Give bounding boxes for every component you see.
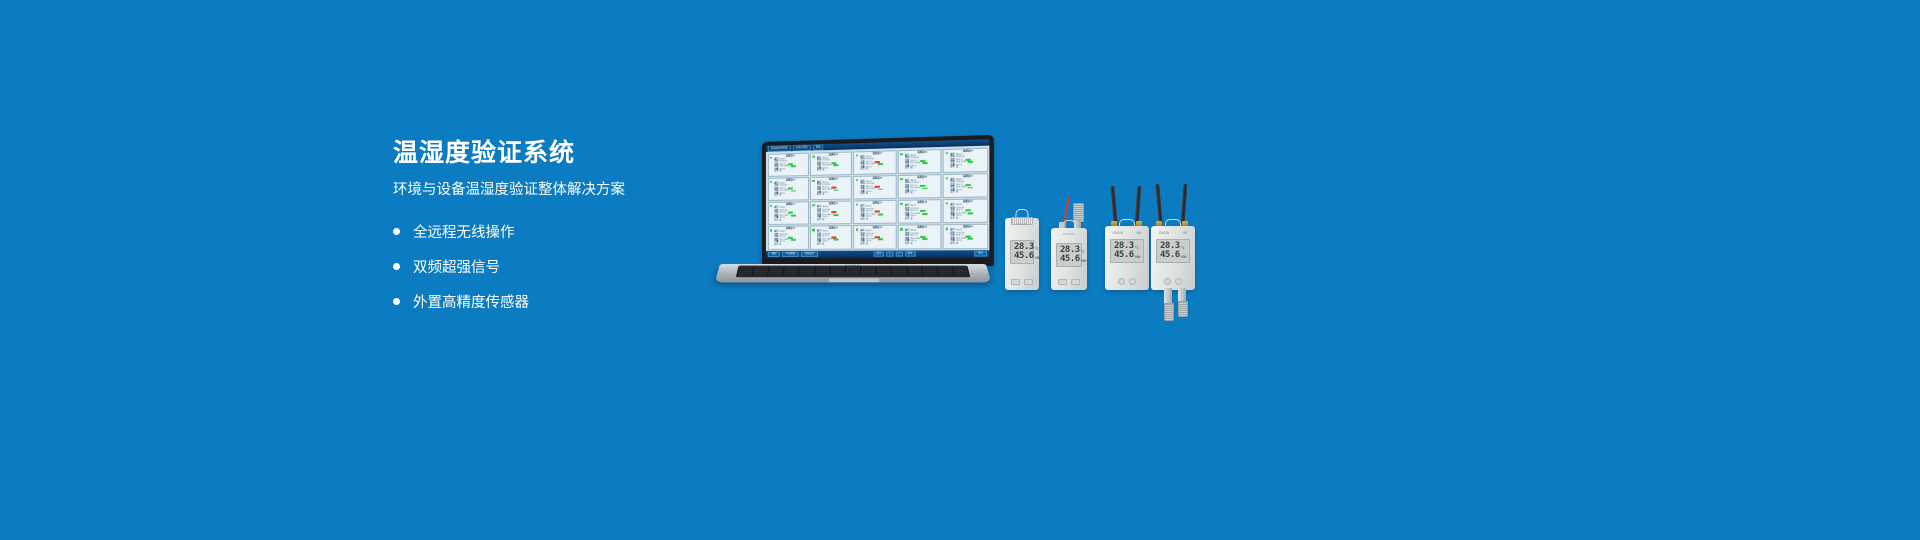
monitor-card-row: 信号强 — [817, 194, 850, 197]
lcd-humidity-unit: %RH — [1181, 256, 1187, 259]
antenna-left-icon — [1155, 184, 1162, 224]
laptop-lid: 温湿度监测系统 记录仪列表 帮助 监测点01编号SN-01时间12:00:00温… — [762, 135, 994, 266]
device-keypad[interactable] — [1051, 279, 1087, 285]
device-brand-left-label: ENGIN — [1113, 231, 1123, 235]
lcd-humidity-unit: %RH — [1035, 257, 1041, 260]
probe-wire-icon — [1063, 196, 1070, 222]
keyboard-key[interactable] — [815, 275, 892, 277]
humidity-status-badge — [833, 164, 838, 166]
monitor-card[interactable]: 监测点04编号SN-01时间12:00:00温度28.3 °C湿度45.6 %R… — [898, 149, 942, 174]
monitor-card-row-label: 信号 — [861, 243, 865, 246]
monitor-card-row-label: 信号 — [817, 170, 821, 173]
device-brand-label: ENGIN — [1051, 232, 1087, 236]
monitor-card-row-label: 信号 — [861, 169, 865, 172]
list-item: 外置高精度传感器 — [393, 291, 713, 312]
pager-first-button[interactable]: 首页 — [874, 251, 884, 257]
device-brand-right-label: HB — [1137, 231, 1141, 235]
monitor-card-row-value: 强 — [779, 219, 781, 222]
lcd-humidity-unit: %RH — [1081, 260, 1087, 263]
keyboard-key[interactable] — [923, 275, 938, 277]
hanger-loop-icon — [1165, 219, 1181, 228]
lcd-humidity-value: 45.6 — [1160, 251, 1180, 260]
monitor-card-row: 信号强 — [905, 167, 939, 170]
temperature-status-badge — [965, 184, 970, 186]
device-keypad[interactable] — [1005, 279, 1039, 285]
monitor-card-row-value: 强 — [956, 243, 958, 246]
device-lcd-display: 28.3 °C 45.6 %RH — [1010, 240, 1034, 264]
monitor-card-row-label: 信号 — [861, 218, 865, 221]
status-led-icon — [770, 205, 772, 207]
export-button[interactable]: 导出数据 — [782, 251, 799, 257]
status-led-icon — [946, 228, 948, 230]
monitor-card-row: 信号强 — [905, 218, 939, 221]
device-key-left[interactable] — [1164, 278, 1171, 285]
status-led-icon — [856, 229, 858, 231]
laptop-touchpad[interactable] — [828, 278, 880, 282]
monitor-card-row-label: 信号 — [950, 217, 954, 220]
monitor-card[interactable]: 监测点20编号SN-01时间12:00:00温度28.3 °C湿度45.6 %R… — [943, 224, 988, 249]
monitor-card-row-value: 强 — [779, 171, 781, 174]
app-toolbar: 刷新 导出数据 系统设置 首页 1 2 末页 退出 — [766, 250, 989, 258]
device-brand-right-label: HB — [1183, 231, 1187, 235]
monitor-card-row-value: 强 — [910, 193, 912, 196]
monitor-card-row-value: 强 — [866, 169, 868, 172]
monitor-card-row-value: 强 — [956, 166, 958, 169]
monitor-card-row: 信号强 — [950, 217, 985, 220]
device-lcd-display: 28.3 °C 45.6 %RH — [1156, 239, 1190, 263]
page-subtitle: 环境与设备温湿度验证整体解决方案 — [393, 182, 713, 199]
device-brand-row: ENGIN HB — [1105, 231, 1149, 235]
monitor-card-row-label: 信号 — [861, 194, 865, 197]
lcd-humidity-row: 45.6 %RH — [1014, 252, 1030, 261]
monitor-card[interactable]: 监测点12编号SN-01时间12:00:00温度28.3 °C湿度45.6 %R… — [810, 201, 852, 225]
humidity-status-badge — [877, 163, 882, 165]
humidity-status-badge — [833, 214, 838, 216]
feature-label: 外置高精度传感器 — [413, 291, 529, 312]
keyboard-key[interactable] — [939, 275, 954, 277]
settings-button[interactable]: 系统设置 — [801, 251, 818, 257]
status-led-icon — [812, 204, 814, 206]
temperature-status-badge — [831, 187, 836, 189]
monitor-card-row-value: 强 — [822, 170, 824, 173]
monitor-card-row: 信号强 — [774, 244, 806, 247]
monitor-card[interactable]: 监测点02编号SN-01时间12:00:00温度28.3 °C湿度45.6 %R… — [810, 151, 852, 176]
device-wireless-temperature-humidity-logger-with-probe: ENGIN HB 28.3 °C 45.6 %RH — [1151, 226, 1195, 290]
monitor-card-row-value: 强 — [866, 243, 868, 246]
device-brand-left-label: ENGIN — [1159, 231, 1169, 235]
monitor-card-row-label: 信号 — [905, 243, 909, 246]
device-lcd-display: 28.3 °C 45.6 %RH — [1056, 243, 1082, 267]
antenna-right-icon — [1135, 186, 1142, 224]
lcd-humidity-value: 45.6 — [1114, 251, 1134, 260]
monitor-card-row: 信号强 — [950, 166, 985, 169]
monitor-card-row: 信号强 — [774, 219, 806, 222]
monitor-card-row-label: 信号 — [950, 243, 954, 246]
device-brand-row: ENGIN HB — [1151, 231, 1195, 235]
laptop-screen: 温湿度监测系统 记录仪列表 帮助 监测点01编号SN-01时间12:00:00温… — [766, 139, 989, 258]
monitor-card-row: 信号强 — [950, 191, 985, 194]
humidity-status-badge — [922, 162, 927, 164]
laptop-base: HUAWEI — [715, 264, 991, 283]
monitor-card-row-value: 强 — [779, 244, 781, 247]
temperature-status-badge — [920, 210, 925, 212]
device-temperature-humidity-logger-with-probe: ENGIN 28.3 °C 45.6 %RH — [1051, 228, 1087, 290]
antenna-right-icon — [1181, 184, 1188, 224]
status-led-icon — [856, 204, 858, 206]
pager-page-1-button[interactable]: 1 — [886, 251, 893, 257]
monitor-card[interactable]: 监测点10编号SN-01时间12:00:00温度28.3 °C湿度45.6 %R… — [943, 173, 988, 198]
status-led-icon — [900, 153, 902, 155]
humidity-status-badge — [833, 239, 838, 241]
keyboard-key[interactable] — [737, 275, 752, 277]
monitor-card-row: 信号强 — [905, 243, 939, 246]
status-led-icon — [812, 229, 814, 231]
monitor-card-row-label: 信号 — [817, 194, 821, 197]
monitor-card-grid: 监测点01编号SN-01时间12:00:00温度28.3 °C湿度45.6 %R… — [766, 146, 989, 251]
device-key-right[interactable] — [1024, 279, 1033, 285]
monitor-card[interactable]: 监测点07编号SN-01时间12:00:00温度28.3 °C湿度45.6 %R… — [810, 176, 852, 200]
probe-sensor-tip-2 — [1178, 301, 1188, 317]
page-title: 温湿度验证系统 — [393, 140, 713, 168]
keyboard-key[interactable] — [954, 275, 969, 277]
status-led-icon — [900, 178, 902, 180]
status-led-icon — [856, 179, 858, 181]
exit-button[interactable]: 退出 — [974, 251, 988, 257]
humidity-status-badge — [922, 213, 927, 215]
keyboard-key[interactable] — [752, 275, 767, 277]
monitor-card-row-value: 强 — [779, 195, 781, 198]
monitor-card-row-label: 信号 — [817, 219, 821, 222]
monitor-card[interactable]: 监测点09编号SN-01时间12:00:00温度28.3 °C湿度45.6 %R… — [898, 174, 942, 199]
humidity-status-badge — [877, 213, 882, 215]
bullet-dot-icon — [393, 298, 400, 305]
status-led-icon — [812, 155, 814, 157]
monitor-card[interactable]: 监测点16编号SN-01时间12:00:00温度28.3 °C湿度45.6 %R… — [767, 226, 808, 250]
monitor-card[interactable]: 监测点17编号SN-01时间12:00:00温度28.3 °C湿度45.6 %R… — [810, 226, 852, 250]
humidity-status-badge — [922, 238, 927, 240]
feature-label: 双频超强信号 — [413, 256, 500, 277]
keyboard-key[interactable] — [908, 275, 923, 277]
keyboard-key[interactable] — [783, 275, 798, 277]
device-key-left[interactable] — [1058, 279, 1067, 285]
monitor-card-row: 信号强 — [861, 193, 895, 196]
hero-banner: 温湿度验证系统 环境与设备温湿度验证整体解决方案 全远程无线操作 双频超强信号 … — [0, 0, 1920, 540]
hanger-loop-icon — [1063, 220, 1076, 228]
monitor-card-row: 信号强 — [817, 169, 850, 172]
device-lcd-display: 28.3 °C 45.6 %RH — [1110, 239, 1144, 263]
humidity-status-badge — [877, 238, 882, 240]
lcd-temperature-unit: °C — [1035, 248, 1039, 251]
monitor-card-row-value: 强 — [866, 193, 868, 196]
feature-label: 全远程无线操作 — [413, 221, 515, 242]
status-led-icon — [946, 177, 948, 179]
monitor-card-row: 信号强 — [861, 168, 895, 171]
monitor-card-row-value: 强 — [910, 167, 912, 170]
hanger-loop-icon — [1119, 219, 1135, 228]
monitor-card[interactable]: 监测点18编号SN-01时间12:00:00温度28.3 °C湿度45.6 %R… — [853, 225, 896, 249]
hero-text-block: 温湿度验证系统 环境与设备温湿度验证整体解决方案 全远程无线操作 双频超强信号 … — [393, 140, 713, 326]
humidity-status-badge — [790, 215, 795, 217]
monitor-card-row-value: 强 — [956, 217, 958, 220]
lcd-temperature-unit: °C — [1081, 251, 1085, 254]
device-brand-label: ENGIN — [1005, 222, 1039, 226]
device-key-left[interactable] — [1118, 278, 1125, 285]
device-key-right[interactable] — [1175, 278, 1182, 285]
monitor-card-row: 信号强 — [861, 218, 895, 221]
monitor-card-row-label: 信号 — [774, 171, 778, 174]
monitor-card-row-value: 强 — [822, 219, 824, 222]
keyboard-key[interactable] — [799, 275, 814, 277]
temperature-status-badge — [920, 185, 925, 187]
temperature-status-badge — [965, 210, 970, 212]
status-led-icon — [812, 180, 814, 182]
monitor-card[interactable]: 监测点13编号SN-01时间12:00:00温度28.3 °C湿度45.6 %R… — [853, 200, 896, 224]
list-item: 双频超强信号 — [393, 256, 713, 277]
monitor-card-row: 信号强 — [861, 243, 895, 246]
hanger-loop-icon — [1016, 209, 1029, 217]
monitor-card[interactable]: 监测点15编号SN-01时间12:00:00温度28.3 °C湿度45.6 %R… — [943, 199, 988, 224]
humidity-status-badge — [790, 166, 795, 168]
humidity-status-badge — [790, 239, 795, 241]
monitor-card[interactable]: 监测点11编号SN-01时间12:00:00温度28.3 °C湿度45.6 %R… — [767, 201, 808, 225]
toolbar-right-group: 退出 — [974, 251, 988, 257]
monitor-card[interactable]: 监测点03编号SN-01时间12:00:00温度28.3 °C湿度45.6 %R… — [853, 150, 896, 175]
monitor-card-row-value: 强 — [910, 243, 912, 246]
monitor-card-row-label: 信号 — [774, 195, 778, 198]
status-led-icon — [946, 202, 948, 204]
monitor-card-row-label: 信号 — [905, 168, 909, 171]
lcd-humidity-row: 45.6 %RH — [1114, 251, 1140, 260]
bullet-dot-icon — [393, 263, 400, 270]
device-wireless-temperature-humidity-logger: ENGIN HB 28.3 °C 45.6 %RH — [1105, 226, 1149, 290]
monitor-card-row-label: 信号 — [817, 244, 821, 247]
status-led-icon — [770, 181, 772, 183]
humidity-status-badge — [968, 212, 973, 214]
monitor-card[interactable]: 监测点14编号SN-01时间12:00:00温度28.3 °C湿度45.6 %R… — [898, 199, 942, 224]
device-temperature-humidity-logger: ENGIN 28.3 °C 45.6 %RH — [1005, 218, 1039, 290]
status-led-icon — [770, 156, 772, 158]
lcd-humidity-unit: %RH — [1135, 256, 1141, 259]
monitor-card-row-label: 信号 — [905, 193, 909, 196]
device-key-right[interactable] — [1129, 278, 1136, 285]
lcd-humidity-value: 45.6 — [1060, 255, 1080, 264]
monitor-card[interactable]: 监测点08编号SN-01时间12:00:00温度28.3 °C湿度45.6 %R… — [853, 175, 896, 200]
device-key-right[interactable] — [1071, 279, 1080, 285]
monitor-card-row: 信号强 — [817, 219, 850, 222]
monitor-card[interactable]: 监测点01编号SN-01时间12:00:00温度28.3 °C湿度45.6 %R… — [767, 152, 808, 176]
refresh-button[interactable]: 刷新 — [768, 252, 780, 258]
monitor-card-row-value: 强 — [822, 194, 824, 197]
monitor-card-row-value: 强 — [822, 244, 824, 247]
monitor-card-row-label: 信号 — [950, 192, 954, 195]
laptop-keyboard[interactable] — [735, 266, 970, 277]
monitor-card[interactable]: 监测点06编号SN-01时间12:00:00温度28.3 °C湿度45.6 %R… — [767, 177, 808, 201]
probe-sensor-tip — [1164, 303, 1174, 321]
device-keypad[interactable] — [1105, 278, 1149, 285]
monitor-card[interactable]: 监测点05编号SN-01时间12:00:00温度28.3 °C湿度45.6 %R… — [943, 147, 988, 172]
device-key-left[interactable] — [1011, 279, 1020, 285]
status-led-icon — [946, 151, 948, 153]
keyboard-key[interactable] — [892, 275, 907, 277]
status-led-icon — [900, 228, 902, 230]
lcd-humidity-value: 45.6 — [1014, 252, 1034, 261]
monitor-card-row-value: 强 — [910, 218, 912, 221]
monitor-card[interactable]: 监测点19编号SN-01时间12:00:00温度28.3 °C湿度45.6 %R… — [898, 225, 942, 249]
lcd-temperature-unit: °C — [1181, 247, 1185, 250]
monitor-card-row-label: 信号 — [905, 218, 909, 221]
list-item: 全远程无线操作 — [393, 221, 713, 242]
device-keypad[interactable] — [1151, 278, 1195, 285]
monitor-card-row: 信号强 — [905, 192, 939, 195]
monitor-card-row-value: 强 — [956, 192, 958, 195]
lcd-temperature-unit: °C — [1135, 247, 1139, 250]
humidity-status-badge — [968, 238, 973, 240]
monitor-card-row: 信号强 — [950, 243, 985, 246]
pager-page-2-button[interactable]: 2 — [895, 251, 902, 257]
monitor-card-row-label: 信号 — [774, 244, 778, 247]
laptop-illustration: 温湿度监测系统 记录仪列表 帮助 监测点01编号SN-01时间12:00:00温… — [720, 142, 986, 300]
lcd-humidity-row: 45.6 %RH — [1160, 251, 1186, 260]
monitor-card-row: 信号强 — [774, 170, 806, 173]
lcd-humidity-row: 45.6 %RH — [1060, 255, 1078, 264]
pager-last-button[interactable]: 末页 — [905, 251, 916, 257]
monitor-card-row-value: 强 — [866, 218, 868, 221]
antenna-left-icon — [1110, 186, 1117, 224]
keyboard-key[interactable] — [768, 275, 783, 277]
bullet-dot-icon — [393, 228, 400, 235]
monitor-card-row: 信号强 — [774, 195, 806, 198]
status-led-icon — [900, 203, 902, 205]
toolbar-left-group: 刷新 导出数据 系统设置 — [768, 251, 818, 257]
status-led-icon — [856, 154, 858, 156]
monitor-card-row: 信号强 — [817, 243, 850, 246]
status-led-icon — [770, 229, 772, 231]
monitor-card-row-label: 信号 — [950, 166, 954, 169]
feature-list: 全远程无线操作 双频超强信号 外置高精度传感器 — [393, 221, 713, 312]
humidity-status-badge — [968, 161, 973, 163]
monitor-card-row-label: 信号 — [774, 219, 778, 222]
toolbar-pager-group: 首页 1 2 末页 — [874, 251, 916, 257]
keyboard-row — [737, 275, 970, 277]
